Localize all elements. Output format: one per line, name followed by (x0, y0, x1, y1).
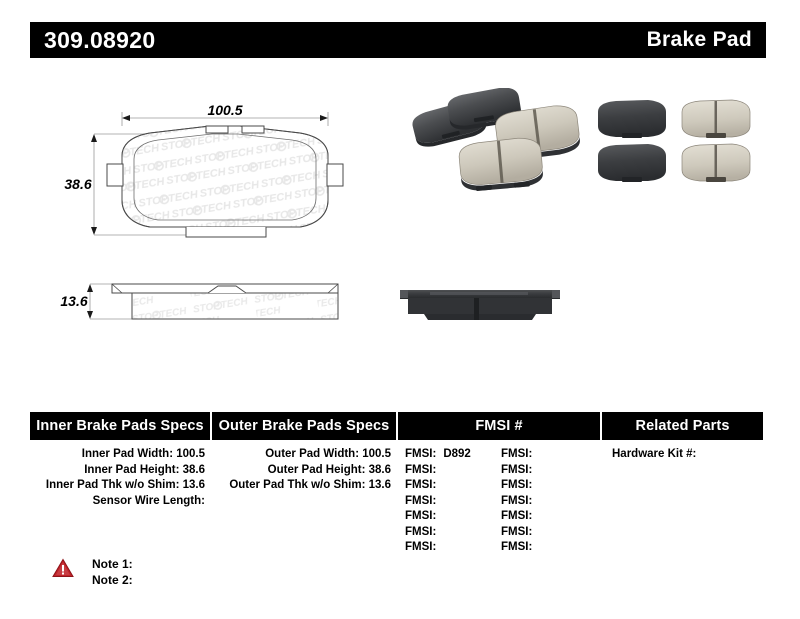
fmsi-row: FMSI: (501, 447, 597, 463)
outer-spec-line: Outer Pad Thk w/o Shim: 13.6 (212, 478, 398, 494)
title-bar: 309.08920 Brake Pad (30, 22, 766, 58)
note-line-1: Note 1: (92, 556, 133, 572)
outer-spec-line: Outer Pad Width: 100.5 (212, 447, 398, 463)
notes-section: Note 1: Note 2: (52, 556, 133, 588)
fmsi-value (436, 464, 443, 476)
fmsi-label: FMSI: (405, 495, 436, 507)
fmsi-label: FMSI: (405, 510, 436, 522)
part-number: 309.08920 (44, 27, 155, 54)
fmsi-value (532, 526, 539, 538)
cad-front-view: STOP TECH STOP TECH STOP TECH (60, 104, 390, 244)
inner-spec-line: Sensor Wire Length: (30, 494, 212, 510)
fmsi-cell: FMSI:D892 FMSI: FMSI: FMSI: FMSI: FMSI: … (398, 440, 602, 556)
product-photo-angled-pads (404, 88, 594, 198)
related-parts-cell: Hardware Kit #: (602, 440, 763, 556)
fmsi-value (532, 495, 539, 507)
dimension-height-label: 38.6 (64, 176, 91, 192)
fmsi-row: FMSI: (405, 463, 501, 479)
fmsi-label: FMSI: (501, 479, 532, 491)
fmsi-label: FMSI: (501, 510, 532, 522)
inner-spec-line: Inner Pad Thk w/o Shim: 13.6 (30, 478, 212, 494)
fmsi-label: FMSI: (405, 448, 436, 460)
header-fmsi: FMSI # (398, 412, 602, 440)
fmsi-label: FMSI: (501, 541, 532, 553)
dimension-width-label: 100.5 (207, 104, 242, 118)
fmsi-row: FMSI: (405, 509, 501, 525)
header-related-parts: Related Parts (602, 412, 763, 440)
note-line-2: Note 2: (92, 572, 133, 588)
fmsi-value (436, 526, 443, 538)
inner-spec-line: Inner Pad Height: 38.6 (30, 463, 212, 479)
fmsi-row: FMSI: (501, 509, 597, 525)
outer-spec-line: Outer Pad Height: 38.6 (212, 463, 398, 479)
fmsi-value (532, 541, 539, 553)
specs-table: Inner Brake Pads Specs Outer Brake Pads … (30, 412, 763, 532)
fmsi-row: FMSI: (501, 494, 597, 510)
fmsi-value (532, 464, 539, 476)
inner-specs-cell: Inner Pad Width: 100.5 Inner Pad Height:… (30, 440, 212, 556)
fmsi-row: FMSI:D892 (405, 447, 501, 463)
fmsi-value (532, 510, 539, 522)
fmsi-value (532, 479, 539, 491)
fmsi-label: FMSI: (405, 479, 436, 491)
fmsi-label: FMSI: (405, 541, 436, 553)
fmsi-row: FMSI: (405, 540, 501, 556)
specs-table-body-row: Inner Pad Width: 100.5 Inner Pad Height:… (30, 440, 763, 556)
header-outer-brake-pads-specs: Outer Brake Pads Specs (212, 412, 398, 440)
cad-side-view: STOP TECH STOP TECH 13.6 (60, 262, 390, 342)
fmsi-value: D892 (436, 448, 471, 460)
fmsi-label: FMSI: (501, 526, 532, 538)
warning-triangle-icon (52, 558, 74, 578)
drawing-area: STOP TECH STOP TECH STOP TECH (0, 64, 800, 394)
outer-specs-cell: Outer Pad Width: 100.5 Outer Pad Height:… (212, 440, 398, 556)
fmsi-value (436, 495, 443, 507)
fmsi-label: FMSI: (501, 464, 532, 476)
fmsi-row: FMSI: (501, 478, 597, 494)
specs-table-header-row: Inner Brake Pads Specs Outer Brake Pads … (30, 412, 763, 440)
fmsi-row: FMSI: (405, 525, 501, 541)
fmsi-label: FMSI: (501, 495, 532, 507)
dimension-thickness-label: 13.6 (60, 293, 87, 309)
fmsi-value (436, 541, 443, 553)
fmsi-row: FMSI: (405, 478, 501, 494)
pad-side-profile (112, 284, 338, 319)
notes-text: Note 1: Note 2: (92, 556, 133, 588)
fmsi-label: FMSI: (405, 526, 436, 538)
fmsi-row: FMSI: (405, 494, 501, 510)
fmsi-value (436, 479, 443, 491)
fmsi-value (532, 448, 539, 460)
header-inner-brake-pads-specs: Inner Brake Pads Specs (30, 412, 212, 440)
product-type-label: Brake Pad (647, 28, 752, 52)
pad-outline (60, 104, 390, 244)
fmsi-row: FMSI: (501, 540, 597, 556)
product-photo-pad-grid (592, 94, 762, 189)
fmsi-row: FMSI: (501, 525, 597, 541)
fmsi-label: FMSI: (405, 464, 436, 476)
product-photo-edge-view (396, 272, 566, 332)
related-part-line: Hardware Kit #: (612, 447, 763, 463)
fmsi-column-left: FMSI:D892 FMSI: FMSI: FMSI: FMSI: FMSI: … (405, 447, 501, 556)
fmsi-row: FMSI: (501, 463, 597, 479)
fmsi-value (436, 510, 443, 522)
fmsi-column-right: FMSI: FMSI: FMSI: FMSI: FMSI: FMSI: FMSI… (501, 447, 597, 556)
inner-spec-line: Inner Pad Width: 100.5 (30, 447, 212, 463)
fmsi-label: FMSI: (501, 448, 532, 460)
